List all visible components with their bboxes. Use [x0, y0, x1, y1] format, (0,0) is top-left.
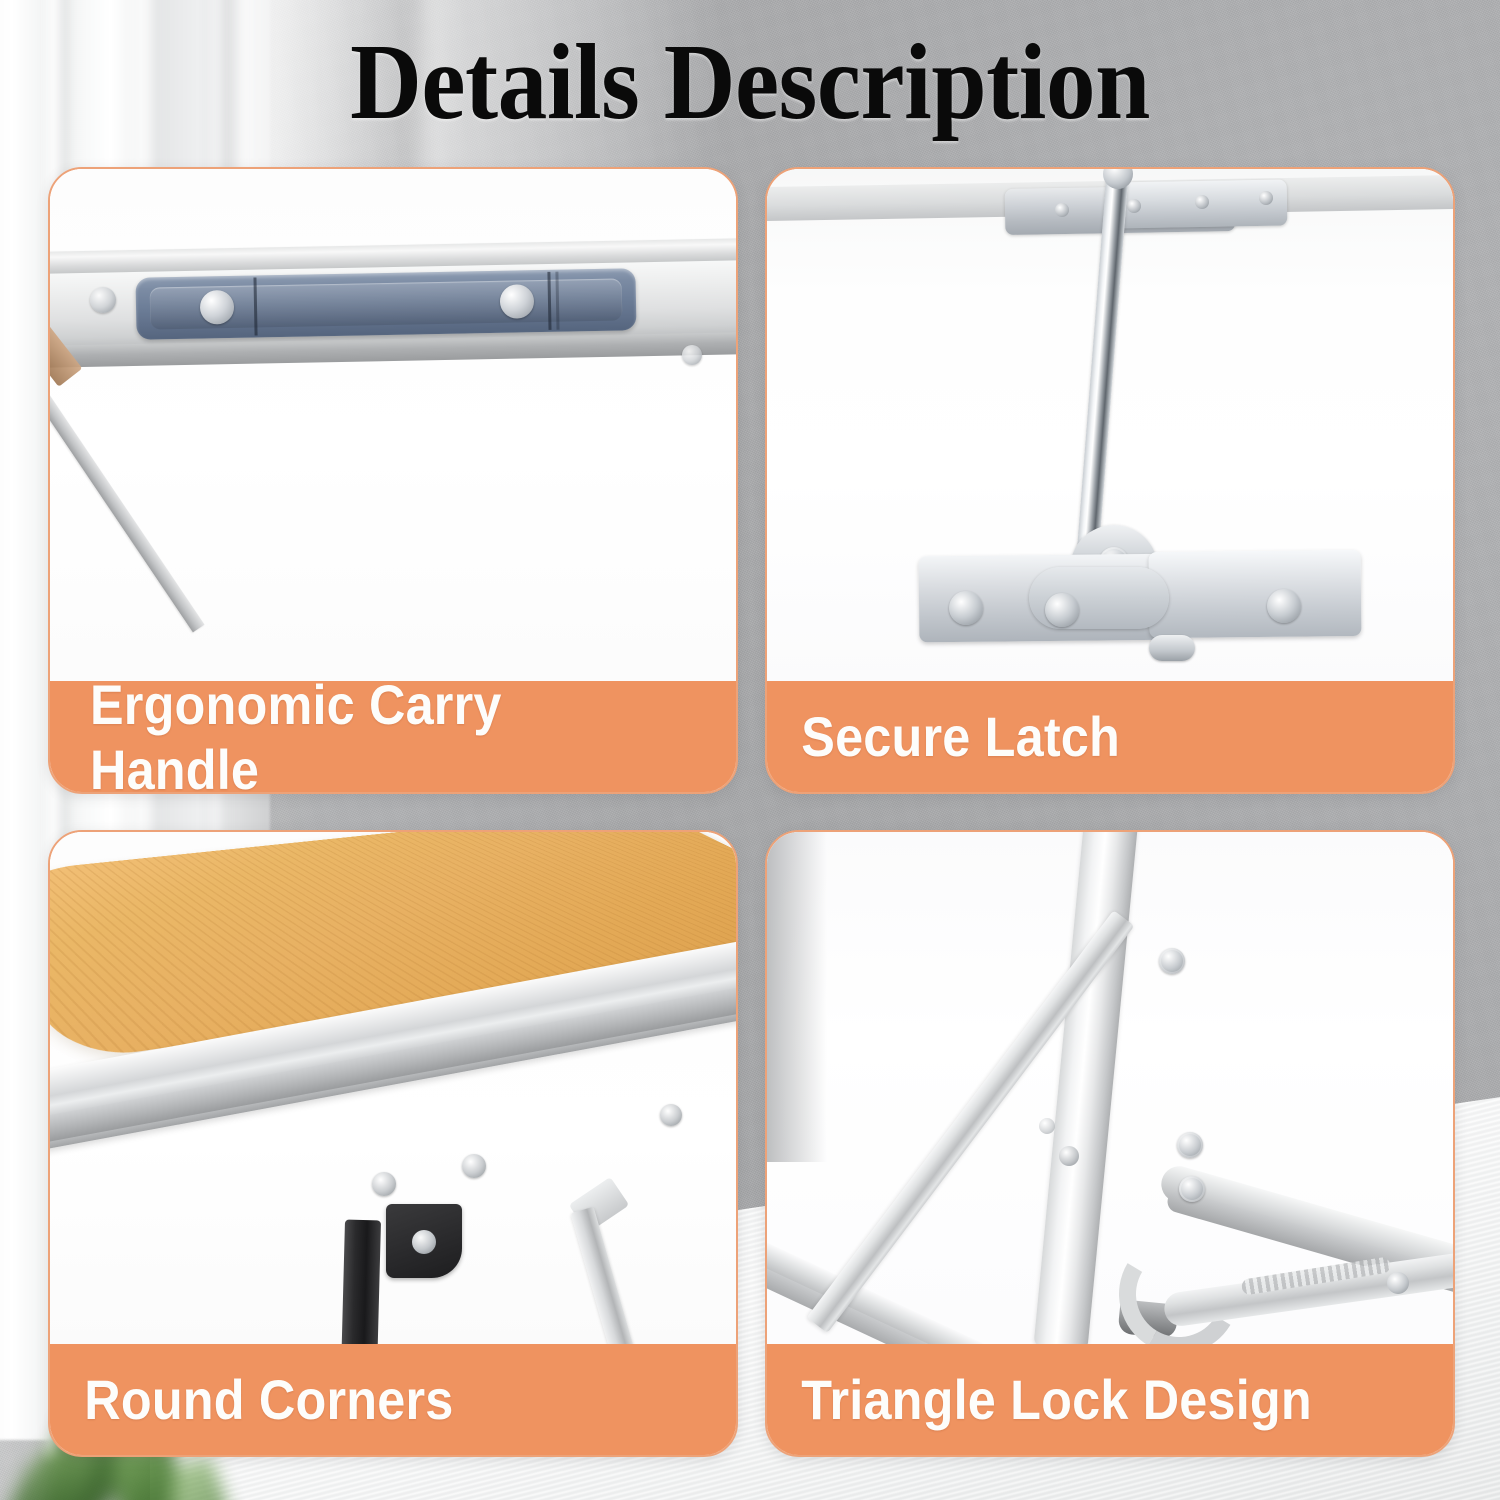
brace-pin: [1059, 1146, 1079, 1166]
plate-hole: [1127, 199, 1141, 213]
handle-seam: [547, 272, 551, 330]
caption-text: Secure Latch: [801, 704, 1418, 769]
handle-seam: [253, 277, 257, 335]
handle-seam: [555, 272, 559, 330]
latch-bolt: [949, 591, 983, 625]
photo-shadow: [767, 832, 827, 1162]
handle-rivet: [200, 290, 235, 325]
caption-text: Triangle Lock Design: [801, 1367, 1418, 1432]
feature-card-round-corners[interactable]: Round Corners: [48, 830, 738, 1457]
card-caption-triangle-lock: Triangle Lock Design: [767, 1344, 1453, 1455]
bracket-screw: [412, 1230, 436, 1254]
leg-screw: [1177, 1132, 1203, 1158]
edge-rivet: [462, 1154, 486, 1178]
plate-hole: [1055, 203, 1069, 217]
handle-rivet: [500, 284, 535, 319]
triangle-lock-photo: [767, 832, 1453, 1344]
brace-pin: [1039, 1118, 1055, 1134]
caption-text: Round Corners: [84, 1367, 701, 1432]
secure-latch-photo: [767, 169, 1453, 681]
leg-screw: [1159, 948, 1185, 974]
plate-hole: [1195, 195, 1209, 209]
edge-rivet: [372, 1172, 396, 1196]
card-caption-round-corners: Round Corners: [50, 1344, 736, 1455]
feature-card-carry-handle[interactable]: Ergonomic Carry Handle: [48, 167, 738, 794]
page-title: Details Description: [60, 26, 1440, 140]
table-leg: [339, 1220, 381, 1344]
latch-plate-right: [1149, 550, 1362, 638]
card-caption-carry-handle: Ergonomic Carry Handle: [50, 681, 736, 792]
card-caption-secure-latch: Secure Latch: [767, 681, 1453, 792]
carry-handle: [135, 268, 636, 340]
latch-bolt: [1045, 593, 1079, 627]
caption-text: Ergonomic Carry Handle: [90, 672, 671, 795]
round-corners-photo: [50, 832, 736, 1344]
frame-screw: [1387, 1272, 1409, 1294]
latch-bolt: [1267, 589, 1301, 623]
leg-screw: [1179, 1176, 1205, 1202]
feature-card-triangle-lock[interactable]: Triangle Lock Design: [765, 830, 1455, 1457]
latch-nub: [1149, 635, 1195, 661]
edge-rivet: [660, 1104, 682, 1126]
carry-handle-photo: [50, 169, 736, 681]
feature-card-grid: Ergonomic Carry Handle: [48, 167, 1455, 1457]
frame-screw: [682, 345, 702, 365]
plate-hole: [1259, 191, 1273, 205]
feature-card-secure-latch[interactable]: Secure Latch: [765, 167, 1455, 794]
